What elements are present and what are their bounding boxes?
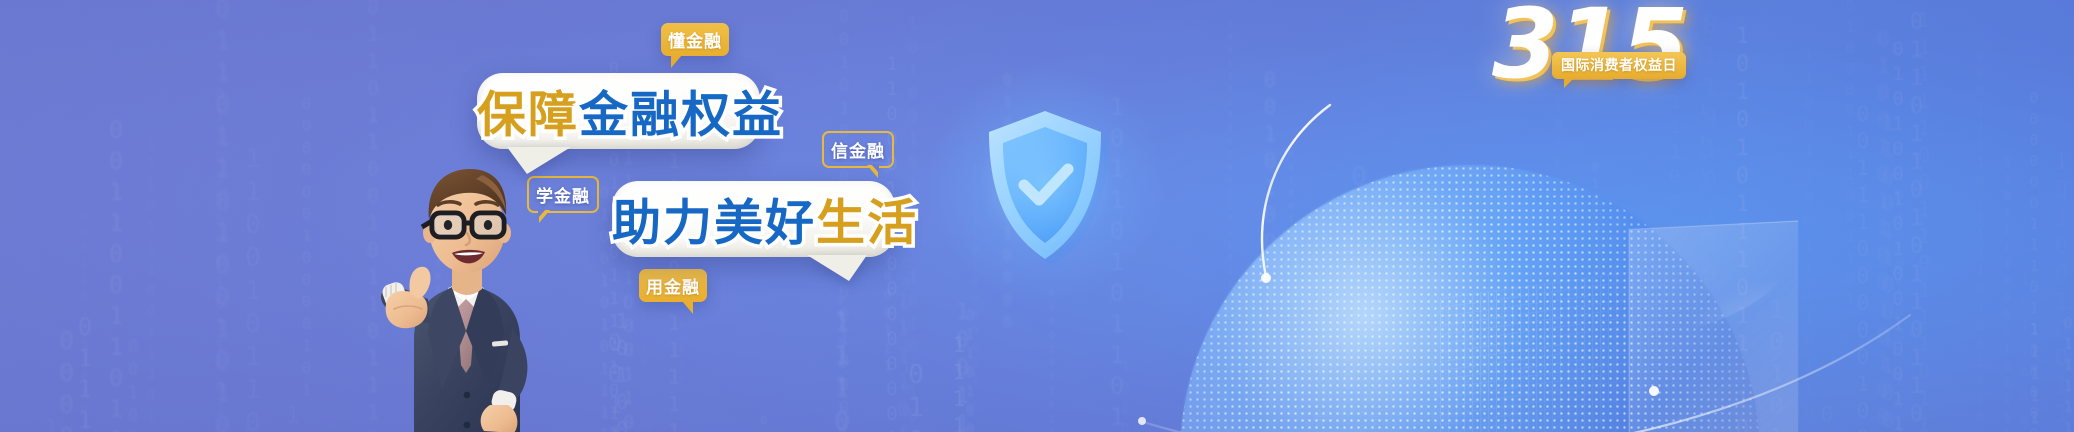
tag-dong-jinrong[interactable]: 懂金融 — [661, 23, 729, 56]
headline-1-blue: 金融权益 — [579, 87, 783, 144]
headline-line-2: 助力美好生活 — [612, 184, 895, 255]
tag-xin-label: 信金融 — [831, 137, 885, 162]
tag-xue-label: 学金融 — [536, 182, 590, 207]
logo-pill-tail — [1564, 78, 1574, 88]
tag-tail — [867, 165, 878, 178]
tag-yong-jinrong[interactable]: 用金融 — [639, 269, 707, 302]
tag-dong-label: 懂金融 — [668, 27, 722, 52]
tag-yong-label: 用金融 — [646, 273, 700, 298]
bubble-tail — [807, 255, 867, 281]
bubble-tail — [507, 147, 571, 174]
tag-tail — [682, 301, 693, 314]
tag-xue-jinrong[interactable]: 学金融 — [527, 176, 599, 213]
shield-glow — [928, 63, 1163, 313]
headline-line-1: 保障金融权益 — [477, 76, 760, 147]
headline-bubble-secondary: 助力美好生活 — [612, 181, 895, 257]
headline-bubble-primary: 保障金融权益 — [477, 73, 760, 149]
logo-315-caption: 国际消费者权益日 — [1552, 52, 1686, 79]
logo-315-number: 315 — [1492, 0, 1686, 100]
glass-pane-decoration — [1629, 221, 1798, 432]
shield-check-icon — [980, 105, 1110, 265]
logo-315: 315 国际消费者权益日 — [1492, 0, 1702, 98]
logo-caption-text: 国际消费者权益日 — [1561, 58, 1677, 74]
tag-tail — [539, 210, 550, 223]
banner-315-financial-rights: 1001110100110101010001110001000000011101… — [0, 0, 2074, 432]
tag-xin-jinrong[interactable]: 信金融 — [822, 131, 894, 168]
headline-2-gold: 生活 — [816, 195, 918, 252]
headline-1-gold: 保障 — [477, 87, 579, 144]
businessman-thumbs-up-icon — [372, 133, 542, 432]
headline-2-blue: 助力美好 — [612, 195, 816, 252]
tag-tail — [671, 55, 682, 68]
